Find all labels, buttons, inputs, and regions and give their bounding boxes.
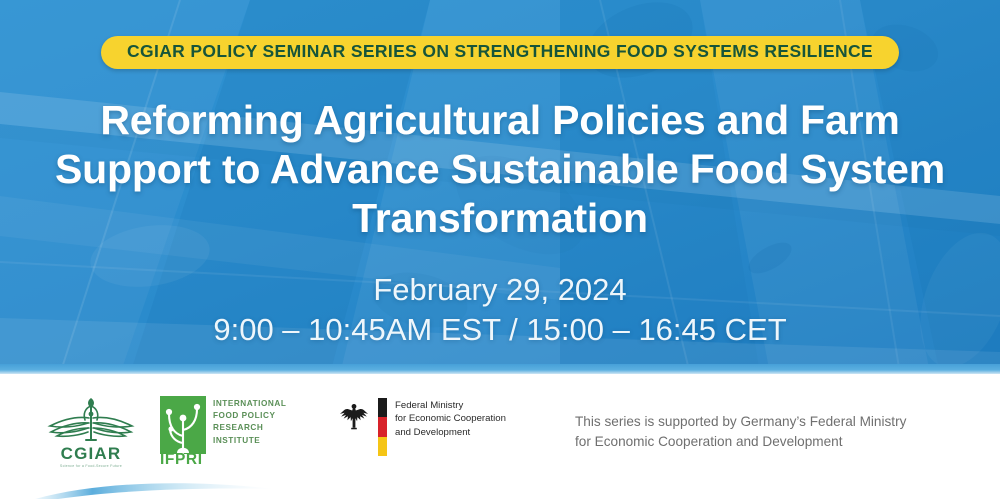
ifpri-name-line-3: RESEARCH: [213, 422, 286, 434]
bmz-name-line-1: Federal Ministry: [395, 399, 506, 412]
bmz-name-line-2: for Economic Cooperation: [395, 412, 506, 425]
ifpri-name-line-1: INTERNATIONAL: [213, 398, 286, 410]
cgiar-tagline: Science for a Food-Secure Future: [42, 465, 140, 469]
series-banner-pill: CGIAR POLICY SEMINAR SERIES ON STRENGTHE…: [101, 36, 899, 69]
event-date: February 29, 2024: [50, 272, 950, 309]
support-note-line-2: for Economic Cooperation and Development: [575, 432, 955, 452]
title-line-3: Transformation: [50, 194, 950, 243]
event-time: 9:00 – 10:45AM EST / 15:00 – 16:45 CET: [50, 311, 950, 349]
hero-section: CGIAR POLICY SEMINAR SERIES ON STRENGTHE…: [0, 0, 1000, 374]
cgiar-logo[interactable]: CGIAR Science for a Food-Secure Future: [42, 396, 140, 469]
bmz-name-line-3: and Development: [395, 426, 506, 439]
footer-section: CGIAR Science for a Food-Secure Future: [0, 374, 1000, 499]
german-flag-bar: [378, 398, 387, 456]
ifpri-wordmark: IFPRI: [160, 452, 203, 468]
decorative-swoosh: [18, 479, 278, 499]
support-note-line-1: This series is supported by Germany’s Fe…: [575, 412, 955, 432]
hero-bottom-band: [0, 364, 1000, 374]
partner-logos: CGIAR Science for a Food-Secure Future: [0, 374, 1000, 499]
page-title: Reforming Agricultural Policies and Farm…: [50, 96, 950, 244]
webinar-poster: CGIAR POLICY SEMINAR SERIES ON STRENGTHE…: [0, 0, 1000, 499]
ifpri-full-name: INTERNATIONAL FOOD POLICY RESEARCH INSTI…: [213, 398, 286, 447]
ifpri-name-line-2: FOOD POLICY: [213, 410, 286, 422]
support-note: This series is supported by Germany’s Fe…: [575, 412, 955, 451]
cgiar-wordmark: CGIAR: [42, 445, 140, 462]
series-banner-label: CGIAR POLICY SEMINAR SERIES ON STRENGTHE…: [127, 43, 873, 61]
cgiar-emblem-icon: [42, 396, 140, 442]
event-datetime: February 29, 2024 9:00 – 10:45AM EST / 1…: [50, 272, 950, 348]
series-banner: CGIAR POLICY SEMINAR SERIES ON STRENGTHE…: [0, 36, 1000, 69]
bmz-ministry-name: Federal Ministry for Economic Cooperatio…: [395, 399, 506, 439]
german-eagle-icon: [338, 400, 370, 432]
ifpri-emblem-icon: [160, 396, 206, 454]
ifpri-name-line-4: INSTITUTE: [213, 435, 286, 447]
title-line-1: Reforming Agricultural Policies and Farm: [50, 96, 950, 145]
title-line-2: Support to Advance Sustainable Food Syst…: [50, 145, 950, 194]
